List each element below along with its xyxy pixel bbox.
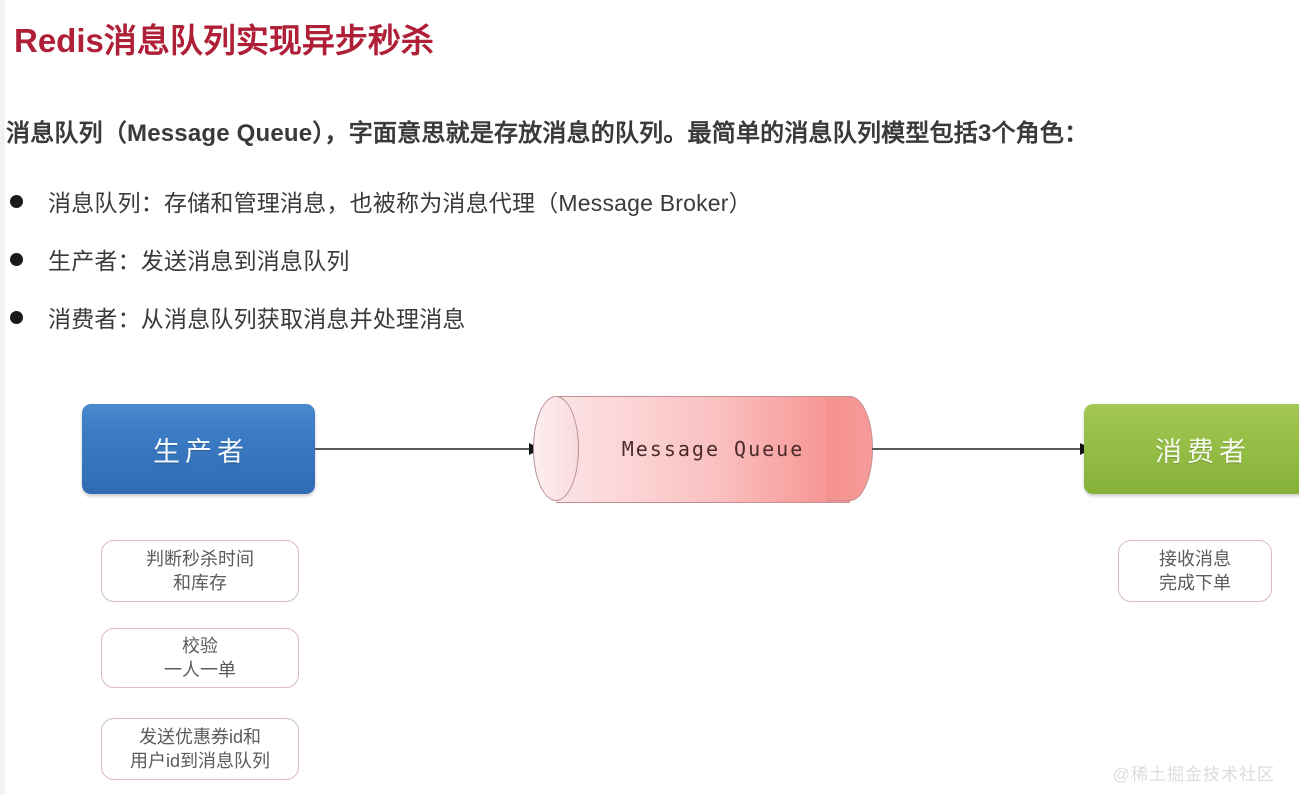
bullet-dot-icon bbox=[10, 253, 23, 266]
note-line: 发送优惠券id和 bbox=[139, 725, 261, 749]
diagram-node-consumer[interactable]: 消费者 bbox=[1084, 404, 1299, 494]
arrow-producer-to-queue bbox=[315, 443, 541, 455]
note-line: 接收消息 bbox=[1159, 547, 1231, 571]
note-box-one-order[interactable]: 校验 一人一单 bbox=[101, 628, 299, 688]
page-title: Redis消息队列实现异步秒杀 bbox=[14, 14, 434, 62]
note-line: 用户id到消息队列 bbox=[130, 749, 270, 773]
watermark: @稀土掘金技术社区 bbox=[1113, 760, 1275, 785]
slide-page: Redis消息队列实现异步秒杀 消息队列（Message Queue），字面意思… bbox=[0, 0, 1299, 795]
list-item-label: 生产者：发送消息到消息队列 bbox=[48, 242, 350, 276]
arrow-shaft bbox=[315, 448, 531, 450]
list-item-label: 消费者：从消息队列获取消息并处理消息 bbox=[48, 300, 466, 334]
lead-paragraph: 消息队列（Message Queue），字面意思就是存放消息的队列。最简单的消息… bbox=[6, 113, 1088, 148]
left-edge-strip bbox=[0, 0, 5, 795]
list-item-label: 消息队列：存储和管理消息，也被称为消息代理（Message Broker） bbox=[48, 184, 752, 218]
diagram-node-producer[interactable]: 生产者 bbox=[82, 404, 315, 494]
bullet-dot-icon bbox=[10, 195, 23, 208]
note-line: 判断秒杀时间 bbox=[146, 547, 254, 571]
note-box-check-time[interactable]: 判断秒杀时间 和库存 bbox=[101, 540, 299, 602]
diagram-node-queue-label: Message Queue bbox=[533, 396, 873, 501]
diagram-node-producer-label: 生产者 bbox=[148, 430, 249, 469]
diagram-node-queue[interactable]: Message Queue bbox=[533, 396, 873, 501]
note-line: 一人一单 bbox=[164, 658, 236, 682]
note-line: 和库存 bbox=[173, 571, 227, 595]
list-item: 消费者：从消息队列获取消息并处理消息 bbox=[6, 288, 1286, 346]
list-item: 生产者：发送消息到消息队列 bbox=[6, 230, 1286, 288]
note-box-send-to-mq[interactable]: 发送优惠券id和 用户id到消息队列 bbox=[101, 718, 299, 780]
note-box-receive-message[interactable]: 接收消息 完成下单 bbox=[1118, 540, 1272, 602]
note-line: 完成下单 bbox=[1159, 571, 1231, 595]
list-item: 消息队列：存储和管理消息，也被称为消息代理（Message Broker） bbox=[6, 172, 1286, 230]
bullet-list: 消息队列：存储和管理消息，也被称为消息代理（Message Broker） 生产… bbox=[6, 172, 1286, 346]
diagram-node-consumer-label: 消费者 bbox=[1150, 430, 1251, 469]
arrow-queue-to-consumer bbox=[872, 443, 1092, 455]
arrow-shaft bbox=[872, 448, 1082, 450]
note-line: 校验 bbox=[182, 634, 218, 658]
bullet-dot-icon bbox=[10, 311, 23, 324]
